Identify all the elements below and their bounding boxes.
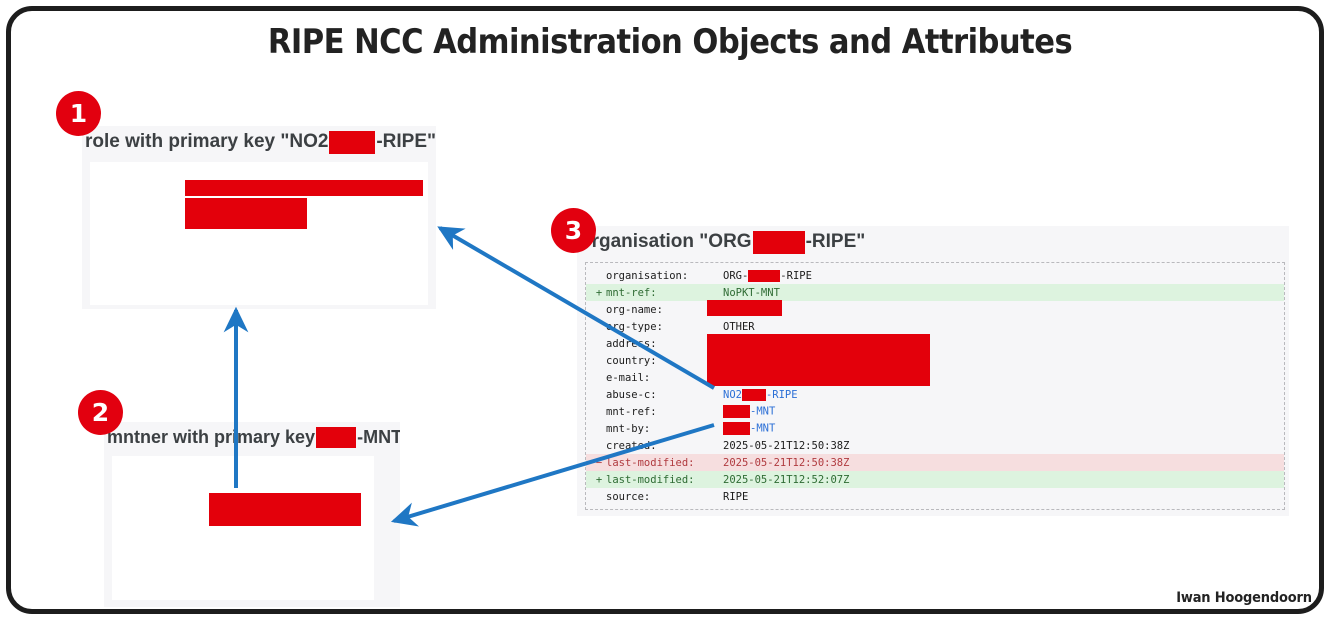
mnt-by-link-suffix[interactable]: -MNT [750, 423, 775, 435]
attr-key: source: [606, 491, 723, 503]
redaction-block [742, 389, 766, 401]
attr-key: organisation: [606, 270, 723, 282]
redaction-block [185, 180, 423, 196]
attr-value: -MNT [723, 405, 1284, 418]
panel-organisation-header-prefix: organisation "ORG [580, 231, 752, 253]
attr-value: RIPE [723, 491, 1284, 503]
panel-role-header-prefix: role with primary key "NO2 [85, 131, 328, 153]
attr-key: org-type: [606, 321, 723, 333]
attr-row-removed: − last-modified: 2025-05-21T12:50:38Z [586, 454, 1284, 471]
panel-role-header-suffix: -RIPE" [376, 131, 436, 153]
organisation-value-prefix: ORG- [723, 270, 748, 282]
redaction-block [185, 198, 307, 229]
attr-key: mnt-ref: [606, 406, 723, 418]
attr-row: address: [586, 335, 1284, 352]
panel-mntner-header-prefix: mntner with primary key [107, 427, 315, 448]
redaction-block [748, 270, 780, 282]
attr-key: abuse-c: [606, 389, 723, 401]
panel-mntner-object: mntner with primary key -MNT" mntner: -M… [104, 422, 400, 607]
attr-key: address: [606, 338, 723, 350]
attr-key: created: [606, 440, 723, 452]
attr-row: country: [586, 352, 1284, 369]
redaction-block [329, 131, 375, 154]
attr-value: 2025-05-21T12:50:38Z [723, 457, 1284, 469]
attr-key: last-modified: [606, 457, 723, 469]
attr-key: mnt-ref: [606, 287, 723, 299]
panel-organisation-body: organisation: ORG--RIPE + mnt-ref: NoPKT… [585, 262, 1285, 510]
attr-row: mnt-by: -MNT [586, 420, 1284, 437]
attr-row-added: + last-modified: 2025-05-21T12:52:07Z [586, 471, 1284, 488]
attr-row: abuse-c: NO2-RIPE [586, 386, 1284, 403]
attr-key: mnt-by: [606, 423, 723, 435]
attr-value: NO2-RIPE [723, 389, 1284, 401]
abuse-c-link-suffix[interactable]: -RIPE [766, 389, 798, 401]
attr-sign-plus: + [592, 474, 606, 486]
attr-sign-plus: + [592, 287, 606, 299]
attr-key: last-modified: [606, 474, 723, 486]
redaction-block [209, 493, 361, 526]
step-badge-3: 3 [551, 208, 596, 253]
redaction-block [707, 334, 930, 386]
attr-sign-minus: − [592, 457, 606, 469]
panel-mntner-plate [112, 456, 374, 600]
attr-row: e-mail: [586, 369, 1284, 386]
abuse-c-link[interactable]: NO2 [723, 389, 742, 401]
attr-row: created: 2025-05-21T12:50:38Z [586, 437, 1284, 454]
panel-role-object: role with primary key "NO2 -RIPE" role: … [82, 126, 436, 309]
panel-mntner-header-suffix: -MNT" [357, 427, 400, 448]
attr-value: 2025-05-21T12:50:38Z [723, 440, 1284, 452]
attr-row: mnt-ref: -MNT [586, 403, 1284, 420]
attr-row: org-type: OTHER [586, 318, 1284, 335]
panel-mntner-header: mntner with primary key -MNT" [104, 422, 400, 452]
redaction-block [753, 231, 805, 254]
panel-organisation-header: organisation "ORG -RIPE" [577, 226, 1289, 258]
attr-row-added: + mnt-ref: NoPKT-MNT [586, 284, 1284, 301]
attr-value: ORG--RIPE [723, 270, 1284, 282]
panel-role-header: role with primary key "NO2 -RIPE" [82, 126, 436, 158]
attr-row: organisation: ORG--RIPE [586, 267, 1284, 284]
panel-organisation-header-suffix: -RIPE" [806, 231, 866, 253]
panel-organisation-object: organisation "ORG -RIPE" organisation: O… [577, 226, 1289, 516]
step-badge-1: 1 [56, 91, 101, 136]
redaction-block [707, 300, 782, 316]
redaction-block [723, 422, 750, 435]
redaction-block [316, 427, 356, 448]
attr-value: 2025-05-21T12:52:07Z [723, 474, 1284, 486]
author-signature: Iwan Hoogendoorn [1176, 590, 1312, 606]
attr-key: org-name: [606, 304, 723, 316]
page-title: RIPE NCC Administration Objects and Attr… [67, 22, 1273, 62]
redaction-block [723, 405, 750, 418]
step-badge-2: 2 [78, 390, 123, 435]
attr-key: e-mail: [606, 372, 723, 384]
attr-row: source: RIPE [586, 488, 1284, 505]
attr-value: OTHER [723, 321, 1284, 333]
mnt-ref-link-suffix[interactable]: -MNT [750, 406, 775, 418]
organisation-value-suffix: -RIPE [780, 270, 812, 282]
attr-value: NoPKT-MNT [723, 287, 1284, 299]
attr-row: org-name: [586, 301, 1284, 318]
attr-value: -MNT [723, 422, 1284, 435]
attr-key: country: [606, 355, 723, 367]
